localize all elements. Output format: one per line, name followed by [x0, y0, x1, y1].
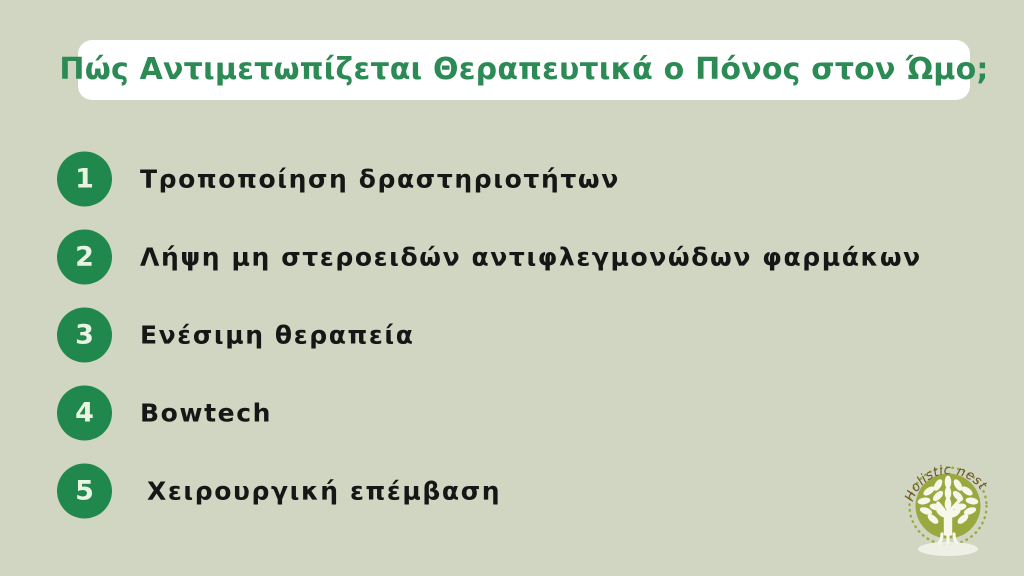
list-item: 5 Χειρουργική επέμβαση — [0, 452, 1024, 530]
list-number-badge: 1 — [57, 152, 112, 207]
list-number-label: 1 — [75, 166, 94, 193]
holistic-nest-logo: Holistic nest — [900, 450, 996, 566]
list-number-badge: 5 — [57, 464, 112, 519]
treatment-list: 1 Τροποποίηση δραστηριοτήτων 2 Λήψη μη σ… — [0, 140, 1024, 530]
list-number-label: 4 — [75, 400, 94, 427]
list-item-label: Ενέσιμη θεραπεία — [140, 323, 415, 348]
list-item-label: Χειρουργική επέμβαση — [147, 479, 501, 504]
slide-canvas: Πώς Αντιμετωπίζεται Θεραπευτικά ο Πόνος … — [0, 0, 1024, 576]
list-item: 1 Τροποποίηση δραστηριοτήτων — [0, 140, 1024, 218]
list-number-badge: 2 — [57, 230, 112, 285]
list-number-badge: 4 — [57, 386, 112, 441]
list-item: 2 Λήψη μη στεροειδών αντιφλεγμονώδων φαρ… — [0, 218, 1024, 296]
list-item-label: Λήψη μη στεροειδών αντιφλεγμονώδων φαρμά… — [140, 245, 922, 270]
list-item-label: Τροποποίηση δραστηριοτήτων — [140, 167, 620, 192]
list-item-label: Bowtech — [140, 401, 272, 426]
list-number-label: 5 — [75, 478, 94, 505]
page-title: Πώς Αντιμετωπίζεται Θεραπευτικά ο Πόνος … — [59, 55, 988, 85]
list-number-label: 3 — [75, 322, 94, 349]
logo-tree-icon: Holistic nest — [900, 450, 996, 566]
list-number-label: 2 — [75, 244, 94, 271]
title-banner: Πώς Αντιμετωπίζεται Θεραπευτικά ο Πόνος … — [78, 40, 970, 100]
list-item: 4 Bowtech — [0, 374, 1024, 452]
list-item: 3 Ενέσιμη θεραπεία — [0, 296, 1024, 374]
list-number-badge: 3 — [57, 308, 112, 363]
